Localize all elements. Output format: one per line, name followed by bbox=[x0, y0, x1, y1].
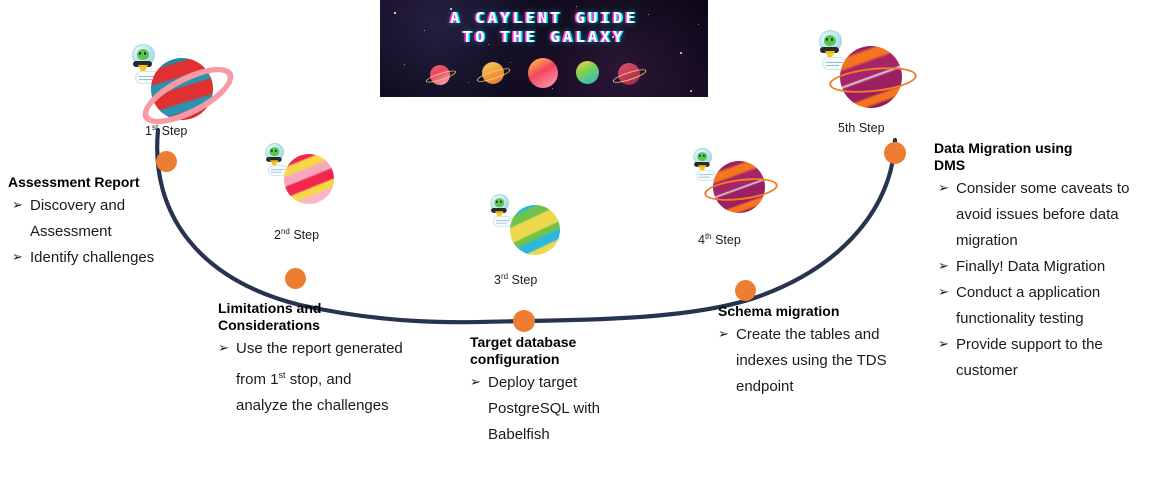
alien-face-icon bbox=[269, 147, 279, 156]
bullet-arrow-icon: ➢ bbox=[12, 245, 23, 271]
block-heading: Limitations and Considerations bbox=[218, 300, 403, 334]
slide-canvas: A CAYLENT GUIDE TO THE GALAXY bbox=[0, 0, 1150, 482]
list-item-text: Deploy target PostgreSQL with Babelfish bbox=[488, 374, 600, 443]
list-item-text: Identify challenges bbox=[30, 249, 154, 266]
step-label-4: 4th Step bbox=[698, 232, 741, 247]
astronaut-icon-4 bbox=[690, 148, 715, 179]
bullet-arrow-icon: ➢ bbox=[938, 254, 949, 280]
list-item: ➢Identify challenges bbox=[8, 245, 188, 271]
alien-face-icon bbox=[137, 49, 149, 60]
block-bullet-list: ➢Use the report generated from 1st stop,… bbox=[218, 336, 403, 419]
banner-planet-row bbox=[380, 58, 708, 90]
step-label-3: 3rd Step bbox=[494, 272, 537, 287]
block-assessment-report: Assessment Report ➢Discovery and Assessm… bbox=[8, 174, 188, 271]
banner-planet-5-ring bbox=[612, 67, 648, 85]
astronaut-icon-3 bbox=[487, 194, 512, 225]
planet-3-body bbox=[510, 205, 560, 255]
planet-3 bbox=[510, 205, 560, 255]
list-item: ➢Use the report generated from 1st stop,… bbox=[218, 336, 403, 419]
list-item-text: Conduct a application functionality test… bbox=[956, 284, 1100, 327]
banner-planet-2-ring bbox=[476, 66, 512, 84]
banner-planet-3 bbox=[528, 58, 558, 88]
list-item-text: Use the report generated from 1st stop, … bbox=[236, 340, 403, 414]
list-item-text: Discovery and Assessment bbox=[30, 197, 125, 240]
alien-face-icon bbox=[494, 198, 504, 207]
list-item: ➢Create the tables and indexes using the… bbox=[718, 322, 898, 400]
list-item-text: Finally! Data Migration bbox=[956, 258, 1105, 275]
alien-face-icon bbox=[824, 35, 836, 46]
bullet-arrow-icon: ➢ bbox=[938, 176, 949, 202]
block-heading: Target database configuration bbox=[470, 334, 645, 368]
list-item: ➢Conduct a application functionality tes… bbox=[934, 280, 1146, 332]
list-item-text: Create the tables and indexes using the … bbox=[736, 326, 887, 395]
bullet-arrow-icon: ➢ bbox=[718, 322, 729, 348]
astronaut-icon-2 bbox=[262, 143, 287, 174]
bullet-arrow-icon: ➢ bbox=[12, 193, 23, 219]
block-bullet-list: ➢Discovery and Assessment ➢Identify chal… bbox=[8, 193, 188, 271]
block-target-database-configuration: Target database configuration ➢Deploy ta… bbox=[470, 334, 645, 448]
step-label-2: 2nd Step bbox=[274, 227, 319, 242]
banner-planet-4 bbox=[576, 61, 599, 84]
list-item: ➢Consider some caveats to avoid issues b… bbox=[934, 176, 1146, 254]
astronaut-icon-5 bbox=[815, 30, 845, 68]
block-heading: Schema migration bbox=[718, 303, 898, 320]
list-item: ➢Discovery and Assessment bbox=[8, 193, 188, 245]
block-data-migration-using-dms: Data Migration using DMS ➢Consider some … bbox=[934, 140, 1146, 384]
bullet-arrow-icon: ➢ bbox=[218, 336, 229, 362]
bullet-arrow-icon: ➢ bbox=[938, 332, 949, 358]
bullet-arrow-icon: ➢ bbox=[470, 370, 481, 396]
block-limitations-and-considerations: Limitations and Considerations ➢Use the … bbox=[218, 300, 403, 419]
block-heading: Data Migration using DMS bbox=[934, 140, 1146, 174]
timeline-dot-5[interactable] bbox=[884, 142, 906, 164]
bullet-arrow-icon: ➢ bbox=[938, 280, 949, 306]
banner-planet-1 bbox=[430, 65, 450, 85]
list-item: ➢Deploy target PostgreSQL with Babelfish bbox=[470, 370, 645, 448]
list-item: ➢Provide support to the customer bbox=[934, 332, 1146, 384]
block-schema-migration: Schema migration ➢Create the tables and … bbox=[718, 303, 898, 400]
timeline-dot-1[interactable] bbox=[156, 151, 177, 172]
step-label-5: 5th Step bbox=[838, 121, 885, 135]
block-bullet-list: ➢Deploy target PostgreSQL with Babelfish bbox=[470, 370, 645, 448]
planet-5 bbox=[840, 46, 902, 108]
step-label-1: 1st Step bbox=[145, 123, 187, 138]
list-item-text: Provide support to the customer bbox=[956, 336, 1103, 379]
planet-4 bbox=[713, 161, 765, 213]
galaxy-banner: A CAYLENT GUIDE TO THE GALAXY bbox=[380, 0, 708, 97]
timeline-dot-3[interactable] bbox=[513, 310, 535, 332]
planet-2-body bbox=[284, 154, 334, 204]
block-bullet-list: ➢Create the tables and indexes using the… bbox=[718, 322, 898, 400]
timeline-dot-2[interactable] bbox=[285, 268, 306, 289]
block-bullet-list: ➢Consider some caveats to avoid issues b… bbox=[934, 176, 1146, 384]
planet-2 bbox=[284, 154, 334, 204]
block-heading: Assessment Report bbox=[8, 174, 188, 191]
banner-planet-2 bbox=[482, 62, 504, 84]
banner-planet-1-ring bbox=[424, 69, 457, 86]
banner-title: A CAYLENT GUIDE TO THE GALAXY bbox=[380, 9, 708, 47]
planet-1 bbox=[151, 58, 213, 120]
list-item: ➢Finally! Data Migration bbox=[934, 254, 1146, 280]
list-item-text: Consider some caveats to avoid issues be… bbox=[956, 180, 1129, 249]
banner-planet-5 bbox=[618, 63, 640, 85]
alien-face-icon bbox=[697, 152, 707, 161]
timeline-dot-4[interactable] bbox=[735, 280, 756, 301]
